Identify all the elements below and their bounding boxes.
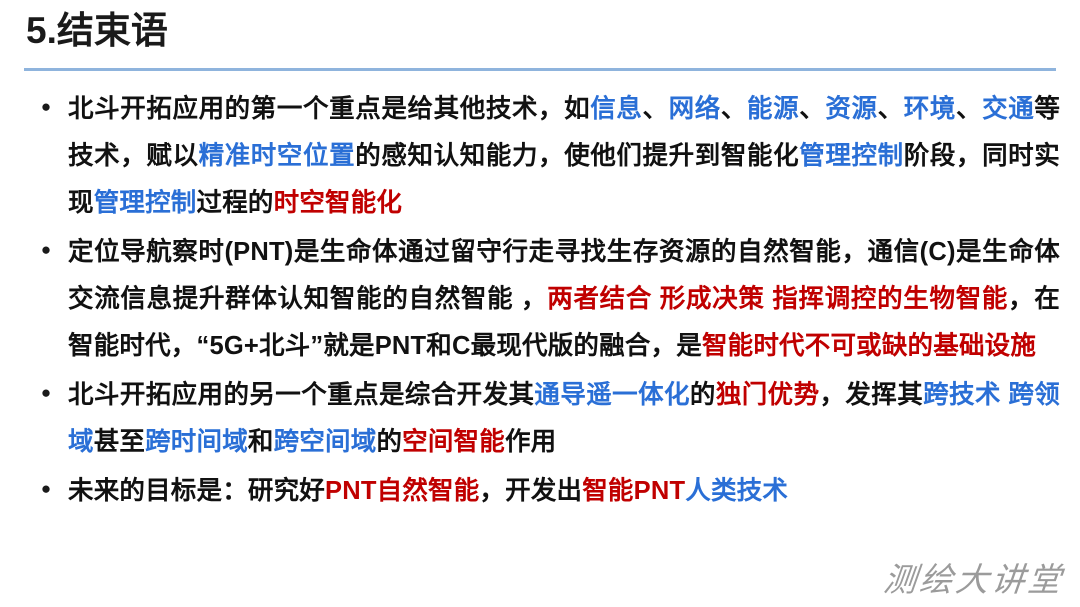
text-run: 独门优势 <box>716 381 820 409</box>
bullet-paragraph-2: 定位导航察时(PNT)是生命体通过留守行走寻找生存资源的自然智能，通信(C)是生… <box>68 229 1060 370</box>
text-run: 精准时空位置 <box>199 142 356 170</box>
text-run: ，发挥其 <box>819 381 923 409</box>
page-title: 5.结束语 <box>26 10 168 53</box>
text-run: 、 <box>878 95 904 123</box>
text-run: 空间智能 <box>402 428 505 456</box>
list-item: ● 定位导航察时(PNT)是生命体通过留守行走寻找生存资源的自然智能，通信(C)… <box>24 229 1060 370</box>
text-run: 网络 <box>669 95 721 123</box>
text-run: 和 <box>248 428 274 456</box>
bullet-marker-icon: ● <box>24 468 68 509</box>
list-item: ● 未来的目标是：研究好PNT自然智能，开发出智能PNT人类技术 <box>24 468 1060 515</box>
bullet-paragraph-1: 北斗开拓应用的第一个重点是给其他技术，如信息、网络、能源、资源、环境、交通等技术… <box>68 86 1060 227</box>
text-run: 通导遥一体化 <box>534 381 689 409</box>
bullet-paragraph-3: 北斗开拓应用的另一个重点是综合开发其通导遥一体化的独门优势，发挥其跨技术 跨领域… <box>68 372 1060 466</box>
text-run: 的 <box>690 381 716 409</box>
text-run: 、 <box>799 95 825 123</box>
text-run: 、 <box>643 95 669 123</box>
text-run: 过程的 <box>197 189 274 217</box>
text-run: 能源 <box>747 95 799 123</box>
text-run: 北斗开拓应用的第一个重点是给其他技术，如 <box>68 95 590 123</box>
text-run: 跨时间域 <box>145 428 248 456</box>
text-run: 管理控制 <box>799 142 903 170</box>
text-run: 信息 <box>590 95 642 123</box>
slide-canvas: 5.结束语 ● 北斗开拓应用的第一个重点是给其他技术，如信息、网络、能源、资源、… <box>0 0 1080 607</box>
text-run: 管理控制 <box>94 189 197 217</box>
text-run: 人类技术 <box>685 477 788 505</box>
bullet-marker-icon: ● <box>24 372 68 413</box>
text-run: 两者结合 形成决策 指挥调控的生物智能 <box>547 285 1008 313</box>
watermark-logo: 测绘大讲堂 <box>881 553 1066 601</box>
text-run: 的感知认知能力，使他们提升到智能化 <box>355 142 799 170</box>
text-run: 作用 <box>505 428 556 456</box>
text-run: PNT自然智能 <box>325 477 479 505</box>
text-run: 环境 <box>904 95 956 123</box>
title-divider <box>24 68 1056 71</box>
text-run: 、 <box>721 95 747 123</box>
bullet-list: ● 北斗开拓应用的第一个重点是给其他技术，如信息、网络、能源、资源、环境、交通等… <box>24 86 1060 517</box>
text-run: 、 <box>956 95 982 123</box>
text-run: 资源 <box>825 95 877 123</box>
text-run: 未来的目标是：研究好 <box>68 477 325 505</box>
text-run: 甚至 <box>94 428 145 456</box>
bullet-marker-icon: ● <box>24 86 68 127</box>
text-run: 智能PNT <box>582 477 685 505</box>
bullet-marker-icon: ● <box>24 229 68 270</box>
text-run: 智能时代不可或缺的基础设施 <box>702 332 1036 360</box>
list-item: ● 北斗开拓应用的第一个重点是给其他技术，如信息、网络、能源、资源、环境、交通等… <box>24 86 1060 227</box>
text-run: 北斗开拓应用的另一个重点是综合开发其 <box>68 381 534 409</box>
text-run: 交通 <box>982 95 1034 123</box>
text-run: ，开发出 <box>479 477 582 505</box>
list-item: ● 北斗开拓应用的另一个重点是综合开发其通导遥一体化的独门优势，发挥其跨技术 跨… <box>24 372 1060 466</box>
text-run: 的 <box>376 428 402 456</box>
text-run: 时空智能化 <box>274 189 403 217</box>
text-run: 跨空间域 <box>274 428 377 456</box>
bullet-paragraph-4: 未来的目标是：研究好PNT自然智能，开发出智能PNT人类技术 <box>68 468 1060 515</box>
